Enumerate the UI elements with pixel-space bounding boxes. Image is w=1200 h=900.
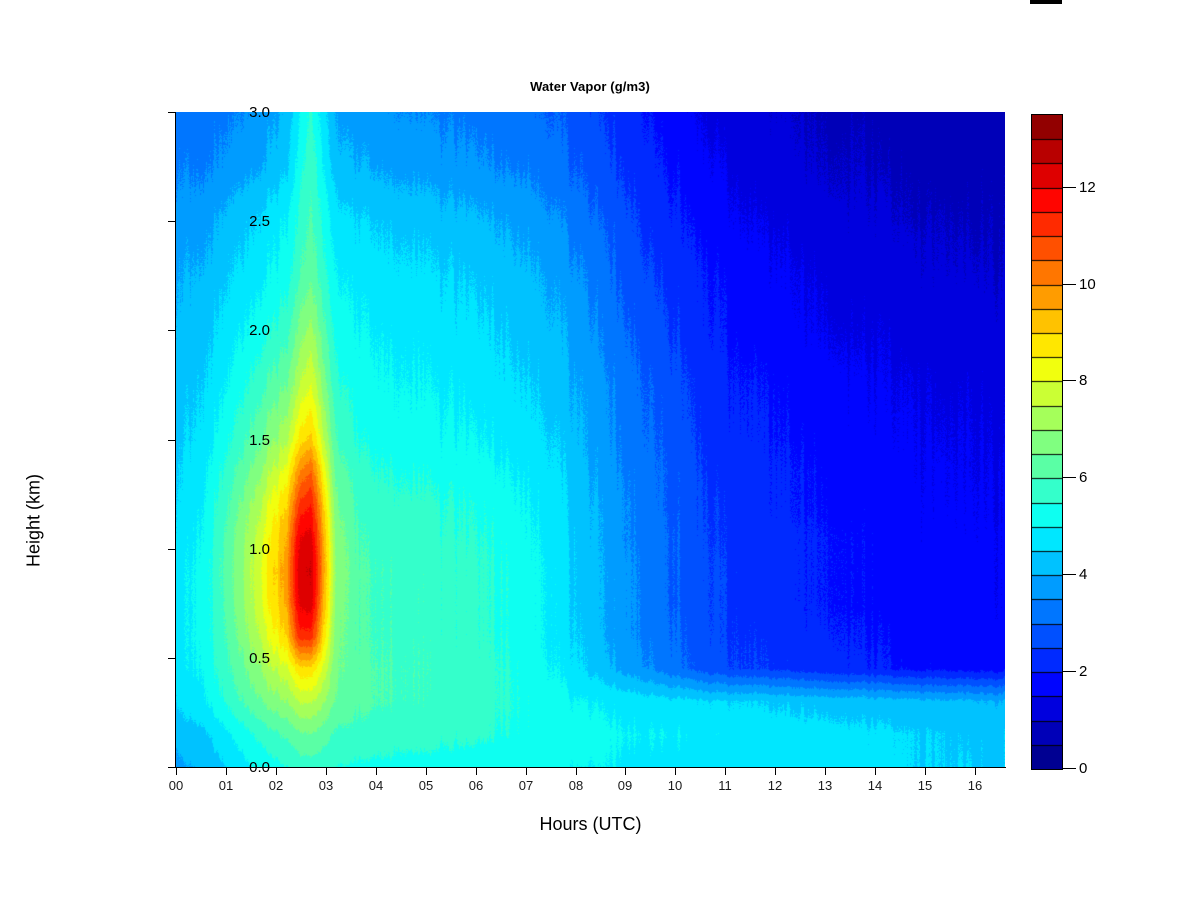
y-axis-tick-label: 2.5 bbox=[224, 214, 270, 229]
x-axis-tick bbox=[675, 768, 676, 775]
colorbar-tick-label: 8 bbox=[1079, 373, 1087, 388]
x-axis-tick-label: 01 bbox=[206, 779, 246, 793]
y-axis-tick-label: 1.0 bbox=[224, 542, 270, 557]
x-axis-line bbox=[176, 767, 1006, 768]
y-axis-tick-label: 3.0 bbox=[224, 105, 270, 120]
x-axis-tick bbox=[975, 768, 976, 775]
colorbar-tick bbox=[1062, 574, 1076, 575]
x-axis-tick bbox=[376, 768, 377, 775]
colorbar-tick bbox=[1062, 768, 1076, 769]
x-axis-tick bbox=[925, 768, 926, 775]
colorbar-tick bbox=[1062, 380, 1076, 381]
x-axis-tick-label: 04 bbox=[356, 779, 396, 793]
chart-title: Water Vapor (g/m3) bbox=[0, 79, 1180, 94]
colorbar-tick-label: 12 bbox=[1079, 180, 1096, 195]
colorbar-tick bbox=[1062, 671, 1076, 672]
heatmap-canvas bbox=[176, 112, 1005, 767]
x-axis-tick-label: 11 bbox=[705, 779, 745, 793]
colorbar-tick-label: 6 bbox=[1079, 470, 1087, 485]
y-axis-title: Height (km) bbox=[24, 441, 45, 601]
x-axis-tick bbox=[426, 768, 427, 775]
x-axis-tick bbox=[625, 768, 626, 775]
x-axis-tick-label: 03 bbox=[306, 779, 346, 793]
colorbar-tick bbox=[1062, 187, 1076, 188]
x-axis-tick-label: 07 bbox=[506, 779, 546, 793]
y-axis-tick bbox=[168, 112, 175, 113]
x-axis-tick-label: 13 bbox=[805, 779, 845, 793]
colorbar-tick-label: 2 bbox=[1079, 664, 1087, 679]
x-axis-tick bbox=[825, 768, 826, 775]
x-axis-tick bbox=[526, 768, 527, 775]
x-axis-tick-label: 08 bbox=[556, 779, 596, 793]
y-axis-tick bbox=[168, 658, 175, 659]
y-axis-tick bbox=[168, 549, 175, 550]
y-axis-tick bbox=[168, 767, 175, 768]
colorbar-ticks: 024681012 bbox=[1031, 0, 1181, 900]
x-axis-tick-label: 14 bbox=[855, 779, 895, 793]
colorbar-tick-label: 4 bbox=[1079, 567, 1087, 582]
x-axis-tick-label: 15 bbox=[905, 779, 945, 793]
y-axis-tick-label: 1.5 bbox=[224, 433, 270, 448]
x-axis-tick bbox=[326, 768, 327, 775]
x-axis-title: Hours (UTC) bbox=[176, 814, 1005, 835]
x-axis-tick-label: 12 bbox=[755, 779, 795, 793]
colorbar-tick bbox=[1062, 284, 1076, 285]
y-axis-tick-label: 0.5 bbox=[224, 651, 270, 666]
x-axis-tick-label: 16 bbox=[955, 779, 995, 793]
y-axis-tick-label: 0.0 bbox=[224, 760, 270, 775]
x-axis-tick bbox=[576, 768, 577, 775]
x-axis-tick-label: 00 bbox=[156, 779, 196, 793]
y-axis-tick bbox=[168, 330, 175, 331]
x-axis-tick bbox=[725, 768, 726, 775]
x-axis-tick-label: 09 bbox=[605, 779, 645, 793]
x-axis-tick-label: 10 bbox=[655, 779, 695, 793]
x-axis-tick-label: 05 bbox=[406, 779, 446, 793]
x-axis-tick-label: 06 bbox=[456, 779, 496, 793]
y-axis-tick bbox=[168, 221, 175, 222]
x-axis-tick bbox=[875, 768, 876, 775]
x-axis-tick bbox=[176, 768, 177, 775]
x-axis-tick bbox=[276, 768, 277, 775]
x-axis-tick bbox=[476, 768, 477, 775]
y-axis-tick bbox=[168, 440, 175, 441]
y-axis-tick-label: 2.0 bbox=[224, 323, 270, 338]
colorbar-tick-label: 10 bbox=[1079, 277, 1096, 292]
heatmap-plot-area bbox=[176, 112, 1005, 767]
x-axis-tick bbox=[226, 768, 227, 775]
x-axis-tick-label: 02 bbox=[256, 779, 296, 793]
colorbar-tick bbox=[1062, 477, 1076, 478]
chart-figure: Water Vapor (g/m3) 0.00.51.01.52.02.53.0… bbox=[0, 0, 1200, 900]
colorbar-tick-label: 0 bbox=[1079, 761, 1087, 776]
x-axis-tick bbox=[775, 768, 776, 775]
y-axis-ticks: 0.00.51.01.52.02.53.0 bbox=[112, 0, 176, 900]
